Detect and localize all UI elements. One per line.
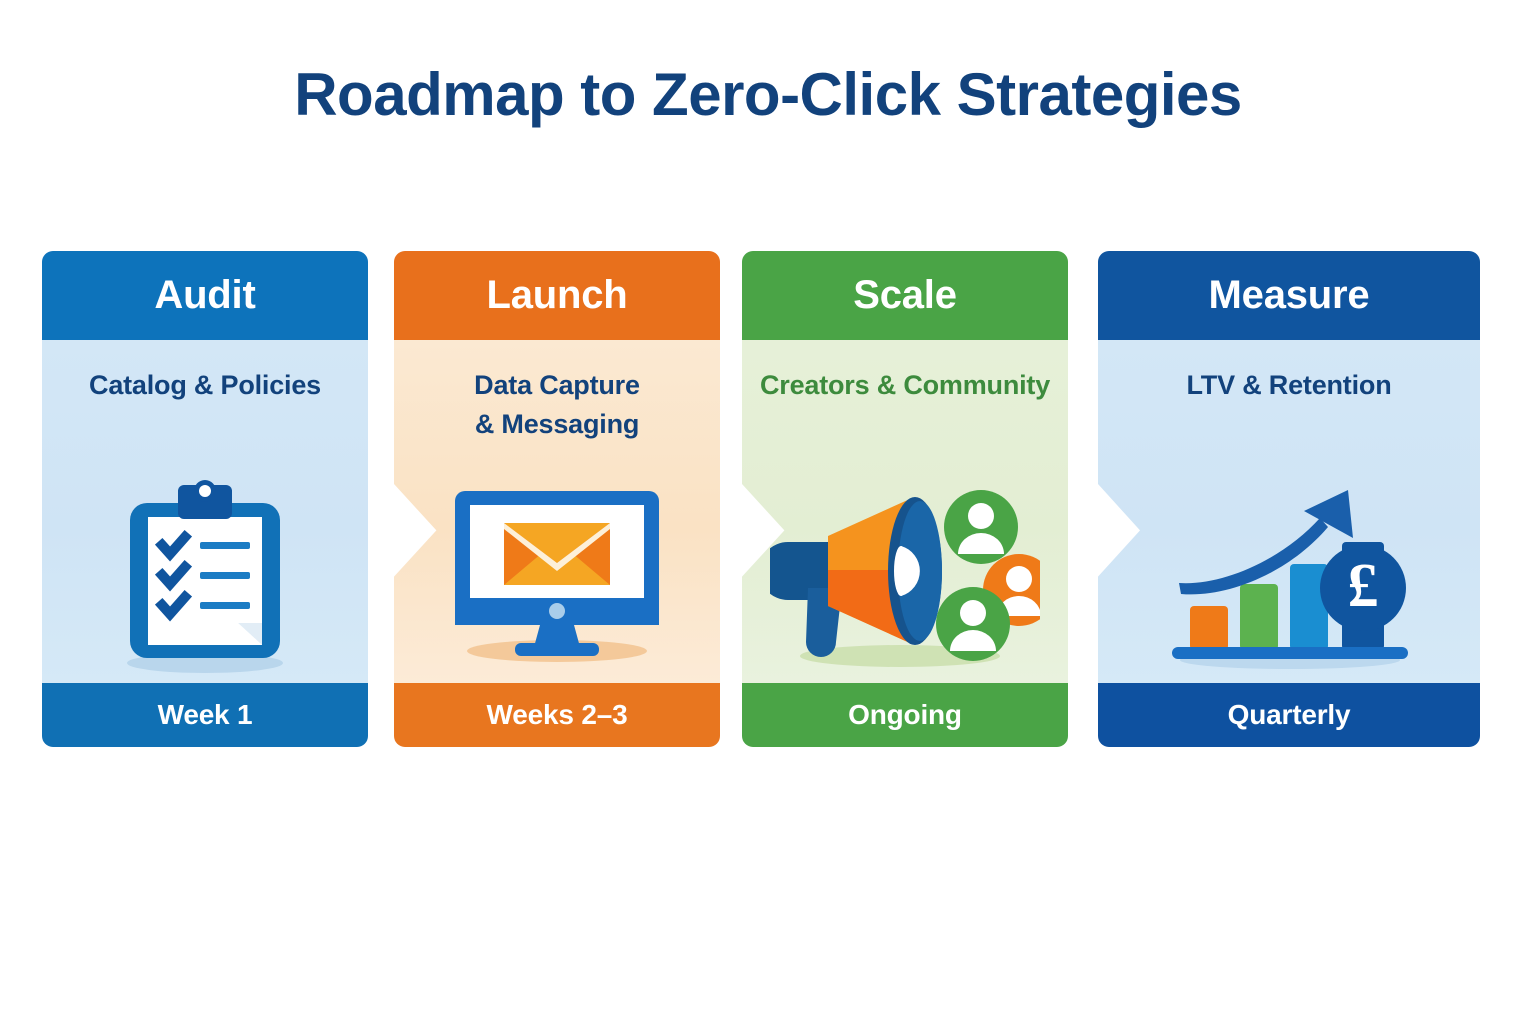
monitor-email-icon	[437, 485, 677, 665]
card-header-audit: Audit	[42, 251, 368, 340]
card-body-scale: Creators & Community	[742, 340, 1068, 683]
card-body-launch: Data Capture & Messaging	[394, 340, 720, 683]
card-subtitle-launch: Data Capture & Messaging	[394, 366, 720, 444]
card-footer-audit: Week 1	[42, 683, 368, 747]
card-subtitle-line-1: Data Capture	[402, 366, 712, 405]
roadmap-card-scale[interactable]: Scale Creators & Community	[742, 251, 1068, 747]
roadmap-stage-list: Audit Catalog & Policies	[42, 251, 1438, 747]
pound-coin: £	[1320, 542, 1406, 631]
envelope-glyph	[504, 523, 610, 585]
icon-slot-launch	[394, 475, 720, 675]
card-footer-measure: Quarterly	[1098, 683, 1480, 747]
card-header-measure: Measure	[1098, 251, 1480, 340]
card-footer-launch: Weeks 2–3	[394, 683, 720, 747]
icon-slot-audit	[42, 475, 368, 675]
community-avatars	[936, 490, 1040, 661]
icon-slot-scale	[742, 475, 1068, 675]
card-subtitle-audit: Catalog & Policies	[42, 366, 368, 405]
icon-slot-measure: £	[1098, 475, 1480, 675]
card-body-audit: Catalog & Policies	[42, 340, 368, 683]
infographic-canvas: Roadmap to Zero-Click Strategies Audit C…	[0, 0, 1536, 1024]
card-subtitle-measure: LTV & Retention	[1098, 366, 1480, 405]
clipboard-checklist-icon	[110, 475, 300, 675]
card-footer-scale: Ongoing	[742, 683, 1068, 747]
card-subtitle-scale: Creators & Community	[742, 366, 1068, 405]
growth-chart-pound-icon: £	[1152, 478, 1427, 673]
card-subtitle-line-2: & Messaging	[402, 405, 712, 444]
megaphone-glyph	[770, 497, 942, 657]
roadmap-card-audit[interactable]: Audit Catalog & Policies	[42, 251, 368, 747]
card-header-launch: Launch	[394, 251, 720, 340]
card-header-scale: Scale	[742, 251, 1068, 340]
page-title: Roadmap to Zero-Click Strategies	[0, 60, 1536, 129]
card-body-measure: LTV & Retention	[1098, 340, 1480, 683]
svg-text:£: £	[1347, 552, 1378, 620]
megaphone-community-icon	[770, 480, 1040, 670]
roadmap-card-launch[interactable]: Launch Data Capture & Messaging	[394, 251, 720, 747]
roadmap-card-measure[interactable]: Measure LTV & Retention	[1098, 251, 1480, 747]
